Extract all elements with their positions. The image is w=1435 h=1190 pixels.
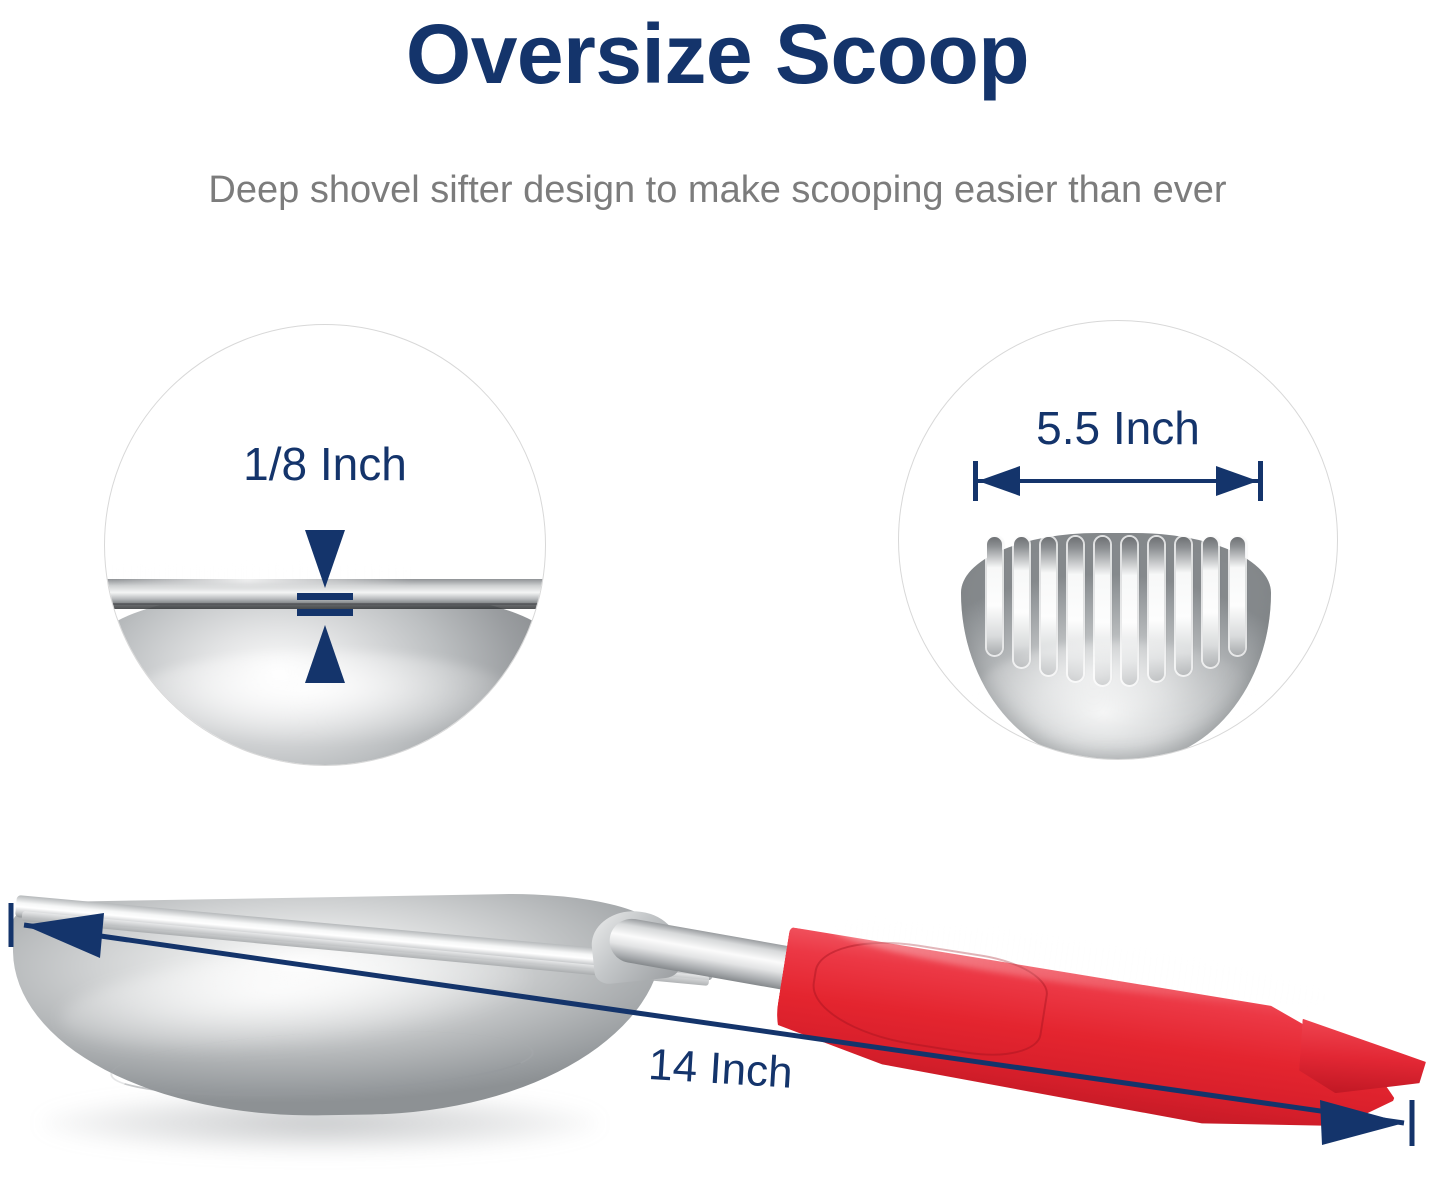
callout-width: 5.5 Inch (898, 320, 1338, 760)
rim-sheen (115, 565, 415, 585)
callout-width-label: 5.5 Inch (899, 405, 1337, 451)
slotted-scoop-head-photo (961, 533, 1271, 760)
product-length-label: 14 Inch (647, 1040, 794, 1099)
product-photo (0, 855, 1435, 1190)
thickness-bar-lower (297, 609, 353, 616)
thickness-bar-upper (297, 593, 353, 600)
page-subtitle: Deep shovel sifter design to make scoopi… (0, 168, 1435, 214)
page-title: Oversize Scoop (0, 8, 1435, 100)
scoop-bowl-sheen (975, 641, 1257, 753)
thickness-arrow-up-icon (305, 625, 345, 683)
callout-thickness: 1/8 Inch (104, 324, 546, 766)
width-dimension-arrow-icon (973, 461, 1263, 501)
callout-thickness-label: 1/8 Inch (105, 441, 545, 487)
thickness-arrow-down-icon (305, 530, 345, 588)
